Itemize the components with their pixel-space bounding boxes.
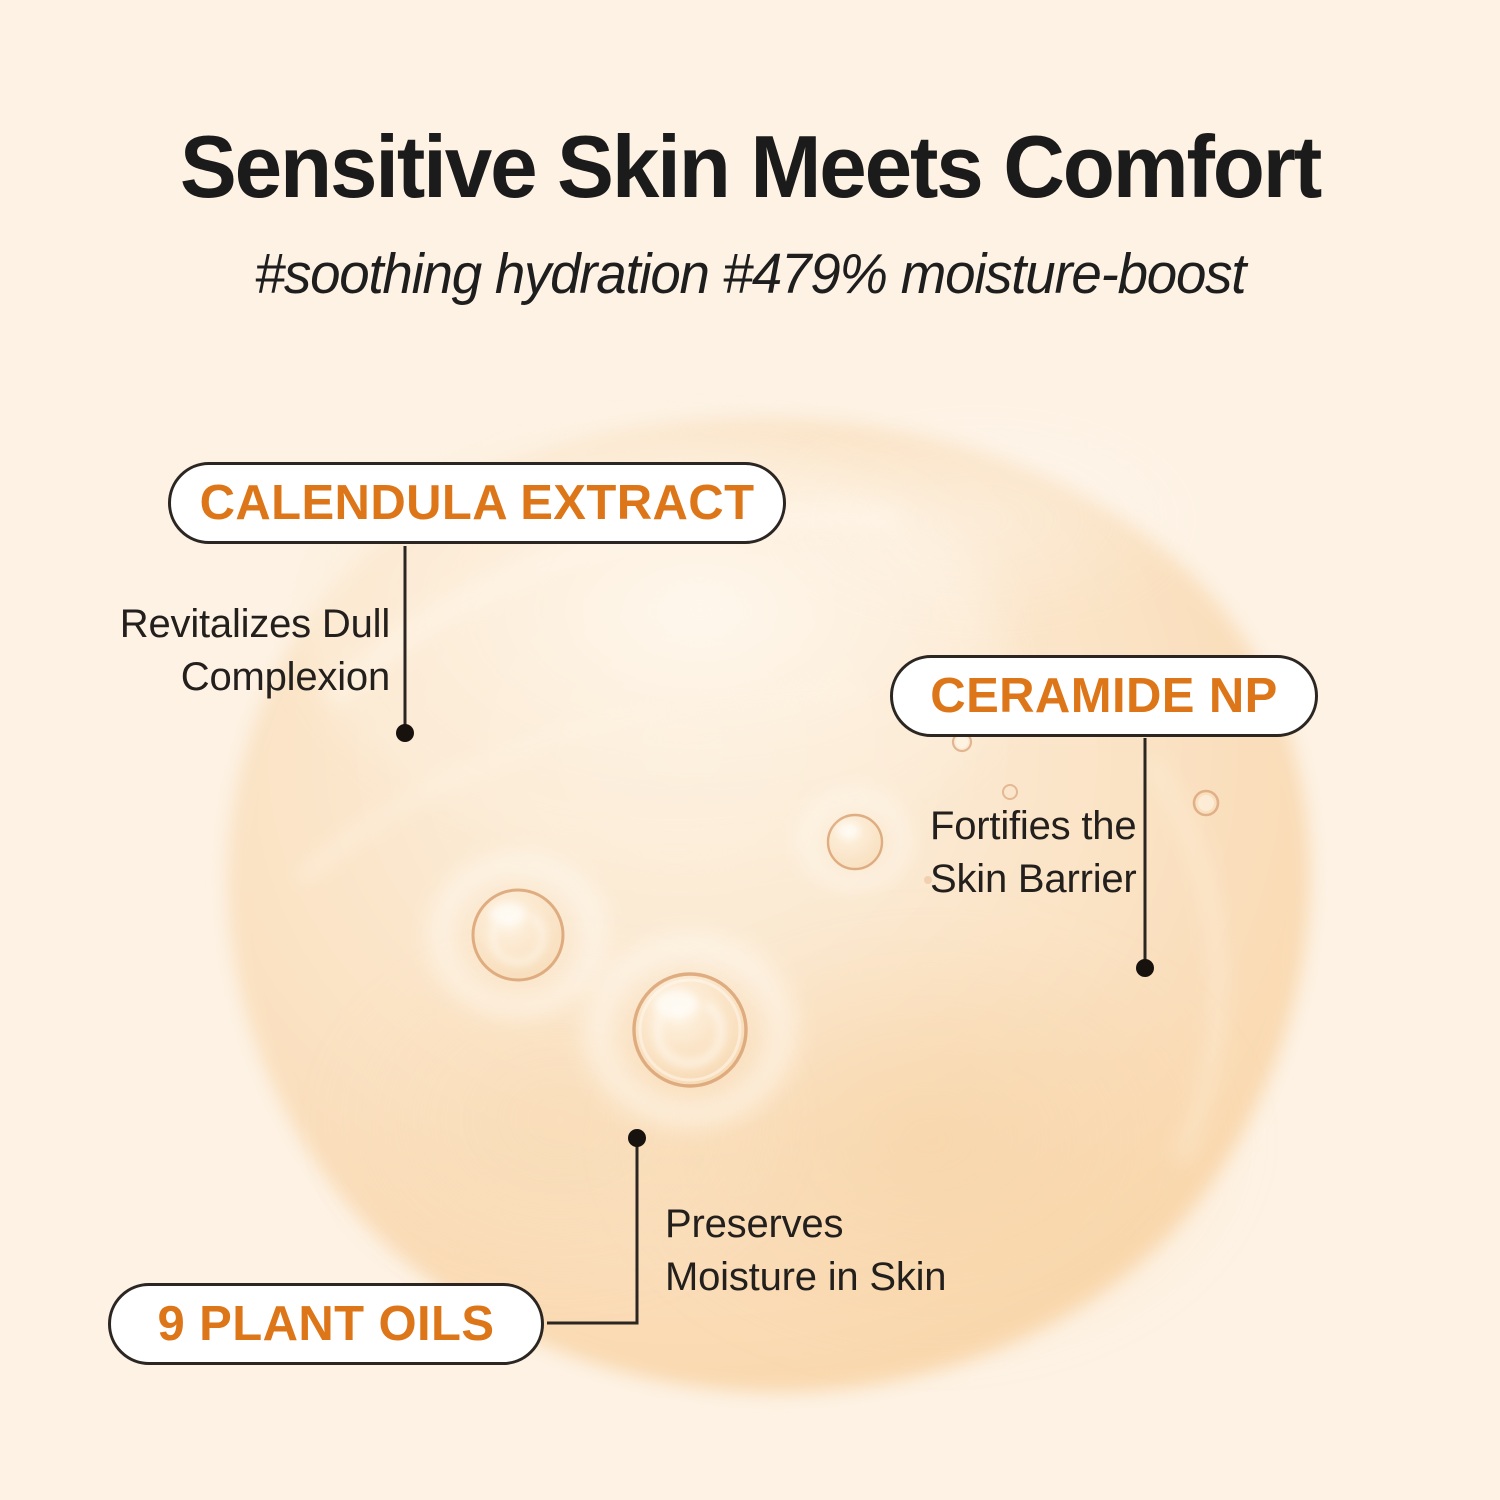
bubble-medium-left [418, 843, 618, 1027]
page-title: Sensitive Skin Meets Comfort [23, 118, 1478, 216]
description-ceramide-np: Fortifies the Skin Barrier [930, 800, 1180, 906]
badge-ceramide-np[interactable]: CERAMIDE NP [890, 655, 1318, 737]
infographic-canvas: Sensitive Skin Meets Comfort #soothing h… [0, 0, 1500, 1500]
description-calendula-extract: Revitalizes Dull Complexion [60, 598, 390, 704]
badge-calendula-extract[interactable]: CALENDULA EXTRACT [168, 462, 786, 544]
description-9-plant-oils: Preserves Moisture in Skin [665, 1198, 995, 1304]
page-subtitle: #soothing hydration #479% moisture-boost [30, 240, 1470, 308]
badge-9-plant-oils[interactable]: 9 PLANT OILS [108, 1283, 544, 1365]
bubble-small-upper-right [793, 784, 917, 896]
